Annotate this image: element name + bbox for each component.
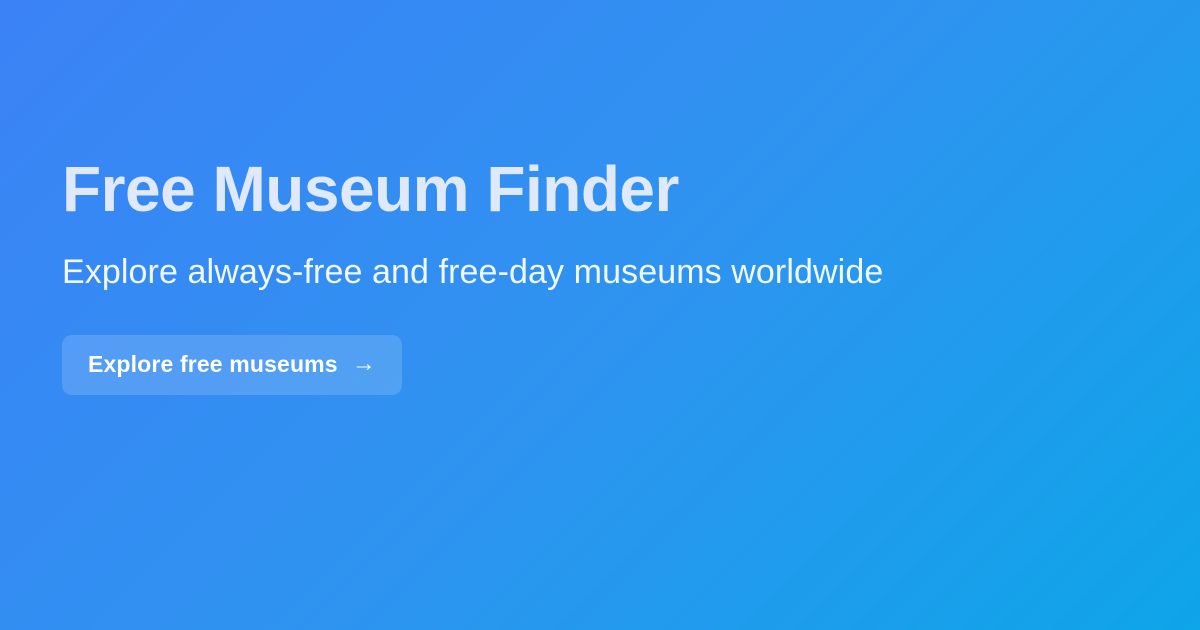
hero-card: Free Museum Finder Explore always-free a… [0,0,1200,630]
explore-free-museums-button[interactable]: Explore free museums → [62,335,402,395]
cta-row: Explore free museums → [62,335,1200,395]
page-subtitle: Explore always-free and free-day museums… [62,253,1200,292]
cta-button-label: Explore free museums [88,351,338,378]
page-title: Free Museum Finder [62,157,1200,221]
arrow-right-icon: → [352,352,376,376]
